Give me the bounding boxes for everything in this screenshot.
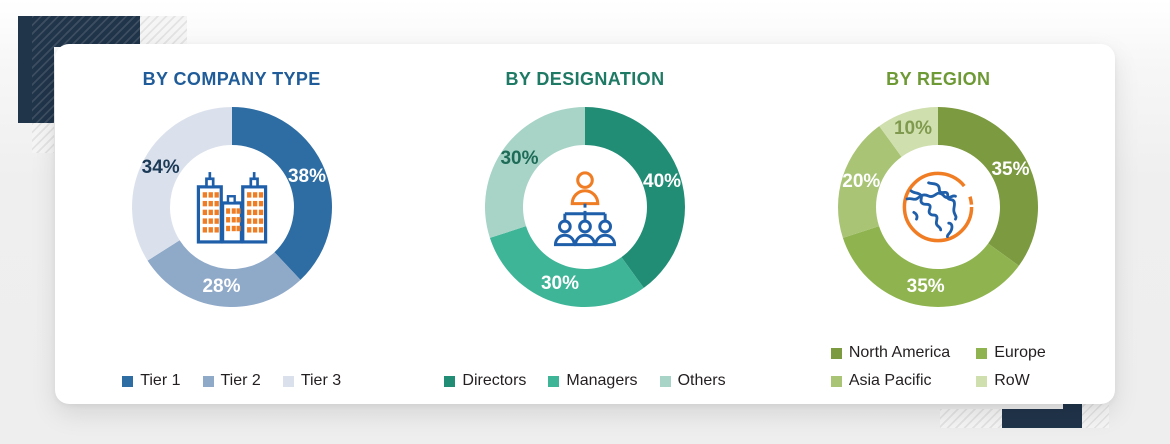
donut-segment-percent-label: 28%	[202, 276, 240, 298]
legend-label: Directors	[462, 372, 526, 390]
legend-label: RoW	[994, 372, 1030, 390]
panel-by-company-type: BY COMPANY TYPE	[55, 44, 408, 404]
donut-chart-company-type: 38%28%34%	[127, 102, 337, 312]
donut-chart-region: 35%35%20%10%	[833, 102, 1043, 312]
donut-segment-percent-label: 30%	[500, 148, 538, 170]
charts-card: BY COMPANY TYPE	[55, 44, 1115, 404]
panel-by-designation: BY DESIGNATION	[408, 44, 761, 404]
donut-segment-percent-label: 10%	[894, 118, 932, 140]
legend-label: Tier 2	[221, 372, 261, 390]
legend-swatch-icon	[660, 376, 671, 387]
panel-title-region: BY REGION	[886, 69, 990, 90]
legend-item[interactable]: Tier 3	[283, 372, 341, 390]
legend-region: North AmericaEuropeAsia PacificRoW	[762, 344, 1115, 390]
legend-label: Managers	[566, 372, 637, 390]
legend-label: Others	[678, 372, 726, 390]
donut-segment-percent-label: 38%	[288, 166, 326, 188]
legend-item[interactable]: Asia Pacific	[831, 372, 932, 390]
org-chart-people-icon	[542, 164, 628, 250]
legend-swatch-icon	[283, 376, 294, 387]
legend-swatch-icon	[976, 376, 987, 387]
infographic-canvas: BY COMPANY TYPE	[0, 0, 1170, 444]
decoration-corner-navy-bottom-right-horizontal	[1002, 409, 1082, 428]
donut-segment-percent-label: 40%	[643, 171, 681, 193]
legend-label: Europe	[994, 344, 1046, 362]
donut-segment-percent-label: 30%	[541, 273, 579, 295]
decoration-stripe-top-right-band	[140, 16, 187, 47]
globe-icon	[895, 164, 981, 250]
panel-title-company-type: BY COMPANY TYPE	[143, 69, 321, 90]
legend-swatch-icon	[831, 348, 842, 359]
donut-segment-percent-label: 35%	[991, 159, 1029, 181]
decoration-stripe-top-left-band	[32, 123, 54, 153]
donut-chart-designation: 40%30%30%	[480, 102, 690, 312]
legend-swatch-icon	[122, 376, 133, 387]
legend-swatch-icon	[831, 376, 842, 387]
legend-swatch-icon	[444, 376, 455, 387]
legend-company-type: Tier 1Tier 2Tier 3	[55, 372, 408, 390]
legend-label: Tier 3	[301, 372, 341, 390]
legend-item[interactable]: Others	[660, 372, 726, 390]
legend-designation: DirectorsManagersOthers	[408, 372, 761, 390]
decoration-stripe-bottom-left-band	[940, 409, 1002, 428]
legend-label: Tier 1	[140, 372, 180, 390]
donut-segment-percent-label: 35%	[907, 276, 945, 298]
legend-item[interactable]: Europe	[976, 344, 1046, 362]
legend-item[interactable]: Managers	[548, 372, 637, 390]
legend-swatch-icon	[203, 376, 214, 387]
panel-by-region: BY REGION	[762, 44, 1115, 404]
panel-title-designation: BY DESIGNATION	[506, 69, 665, 90]
legend-item[interactable]: Tier 2	[203, 372, 261, 390]
legend-item[interactable]: RoW	[976, 372, 1030, 390]
legend-label: Asia Pacific	[849, 372, 932, 390]
legend-swatch-icon	[976, 348, 987, 359]
legend-swatch-icon	[548, 376, 559, 387]
donut-segment-percent-label: 20%	[842, 171, 880, 193]
legend-item[interactable]: North America	[831, 344, 950, 362]
legend-label: North America	[849, 344, 950, 362]
legend-item[interactable]: Directors	[444, 372, 526, 390]
donut-segment-percent-label: 34%	[142, 157, 180, 179]
legend-item[interactable]: Tier 1	[122, 372, 180, 390]
office-buildings-icon	[189, 164, 275, 250]
